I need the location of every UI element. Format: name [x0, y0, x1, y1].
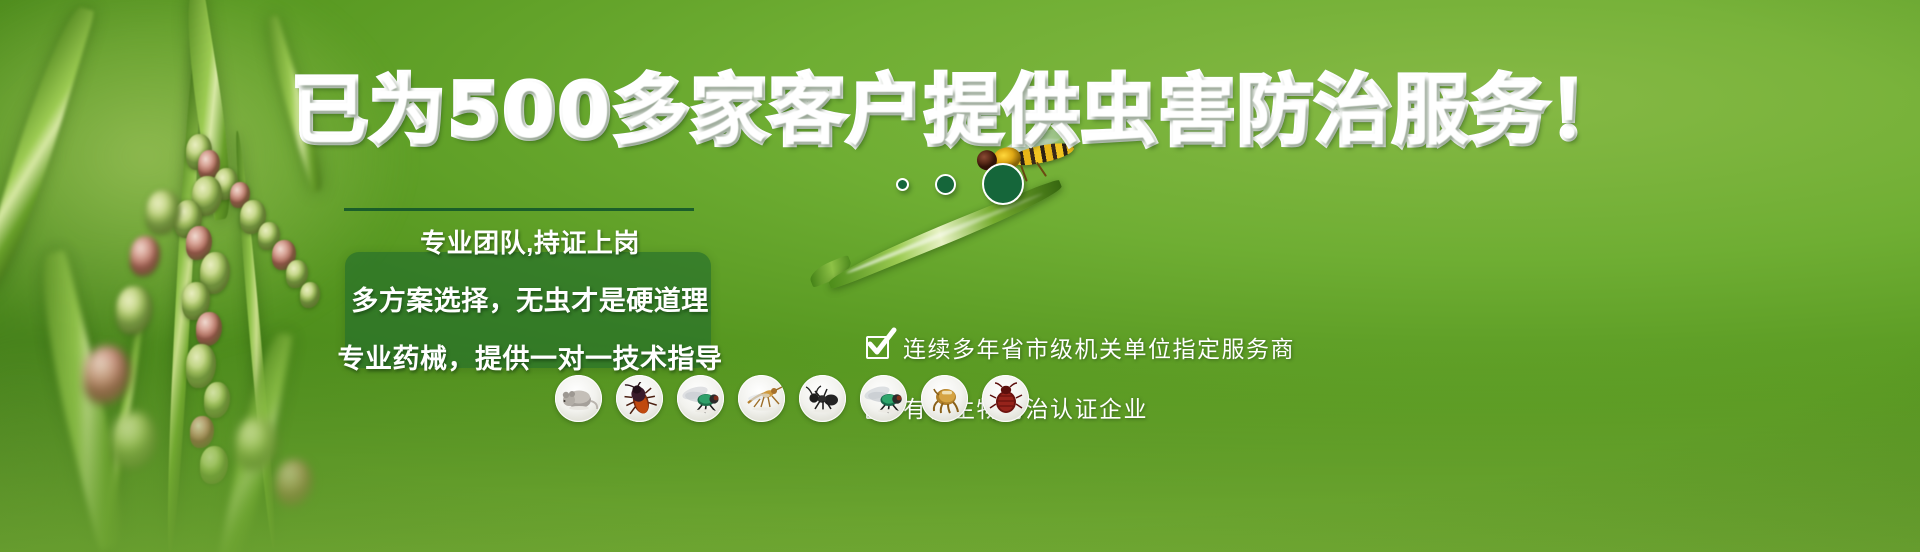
blowfly-icon[interactable] [860, 375, 907, 422]
info-line-2: 多方案选择，无虫才是硬道理 [351, 279, 709, 318]
info-line-1: 专业团队,持证上岗 [420, 223, 640, 260]
bedbug-icon[interactable] [982, 375, 1029, 422]
info-panel: 专业团队,持证上岗 多方案选择，无虫才是硬道理 专业药械，提供一对一技术指导 [330, 213, 730, 376]
flea-icon[interactable] [921, 375, 968, 422]
divider [344, 208, 694, 211]
mosquito-icon[interactable] [738, 375, 785, 422]
list-item: 连续多年省市级机关单位指定服务商 [866, 330, 1295, 364]
checklist-label: 连续多年省市级机关单位指定服务商 [903, 330, 1295, 364]
page-title: 已为500多家客户提供虫害防治服务！ [0, 74, 1920, 149]
dot-small-icon [896, 178, 909, 191]
fly-icon[interactable] [677, 375, 724, 422]
info-line-3: 专业药械，提供一对一技术指导 [338, 337, 723, 376]
headline-text: 已为500多家客户提供虫害防治服务！ [292, 67, 1628, 155]
rat-icon[interactable] [555, 375, 602, 422]
pest-icon-strip [555, 375, 1029, 422]
checkbox-check-icon [866, 336, 889, 359]
cockroach-icon[interactable] [616, 375, 663, 422]
dot-large-icon [982, 163, 1024, 205]
promo-banner: 已为500多家客户提供虫害防治服务！ 专业团队,持证上岗 多方案选择，无虫才是硬… [0, 0, 1920, 552]
ant-icon[interactable] [799, 375, 846, 422]
dot-medium-icon [935, 174, 956, 195]
decorative-dots [0, 163, 1920, 205]
